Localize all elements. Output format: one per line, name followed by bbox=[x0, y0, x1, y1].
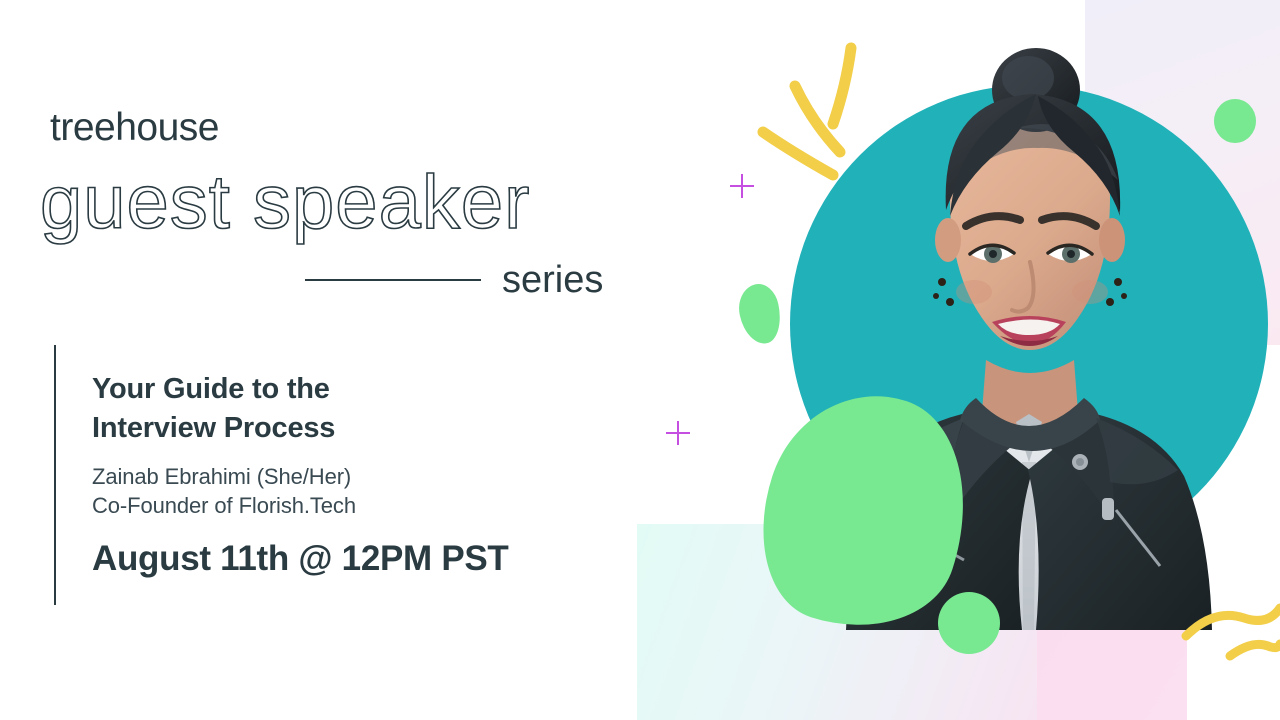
brand-wordmark: treehouse bbox=[50, 108, 219, 147]
series-divider-rule bbox=[305, 279, 481, 281]
vertical-accent-rule bbox=[54, 345, 56, 605]
speaker-role: Co-Founder of Florish.Tech bbox=[92, 490, 356, 521]
plus-mark-upper-icon bbox=[730, 174, 754, 198]
talk-title: Your Guide to the Interview Process bbox=[92, 370, 335, 447]
speaker-name: Zainab Ebrahimi (She/Her) bbox=[92, 461, 351, 492]
headline-guest-speaker: guest speaker bbox=[40, 165, 530, 241]
talk-title-line-1: Your Guide to the bbox=[92, 370, 335, 409]
event-datetime: August 11th @ 12PM PST bbox=[92, 538, 509, 580]
plus-mark-lower-icon bbox=[666, 421, 690, 445]
text-content-region: treehouse guest speaker series Your Guid… bbox=[0, 0, 660, 720]
promo-slide: treehouse guest speaker series Your Guid… bbox=[0, 0, 1280, 720]
series-label: series bbox=[502, 258, 603, 304]
series-row: series bbox=[305, 258, 635, 304]
talk-title-line-2: Interview Process bbox=[92, 409, 335, 448]
yellow-squiggle-lines-icon bbox=[1186, 608, 1280, 656]
